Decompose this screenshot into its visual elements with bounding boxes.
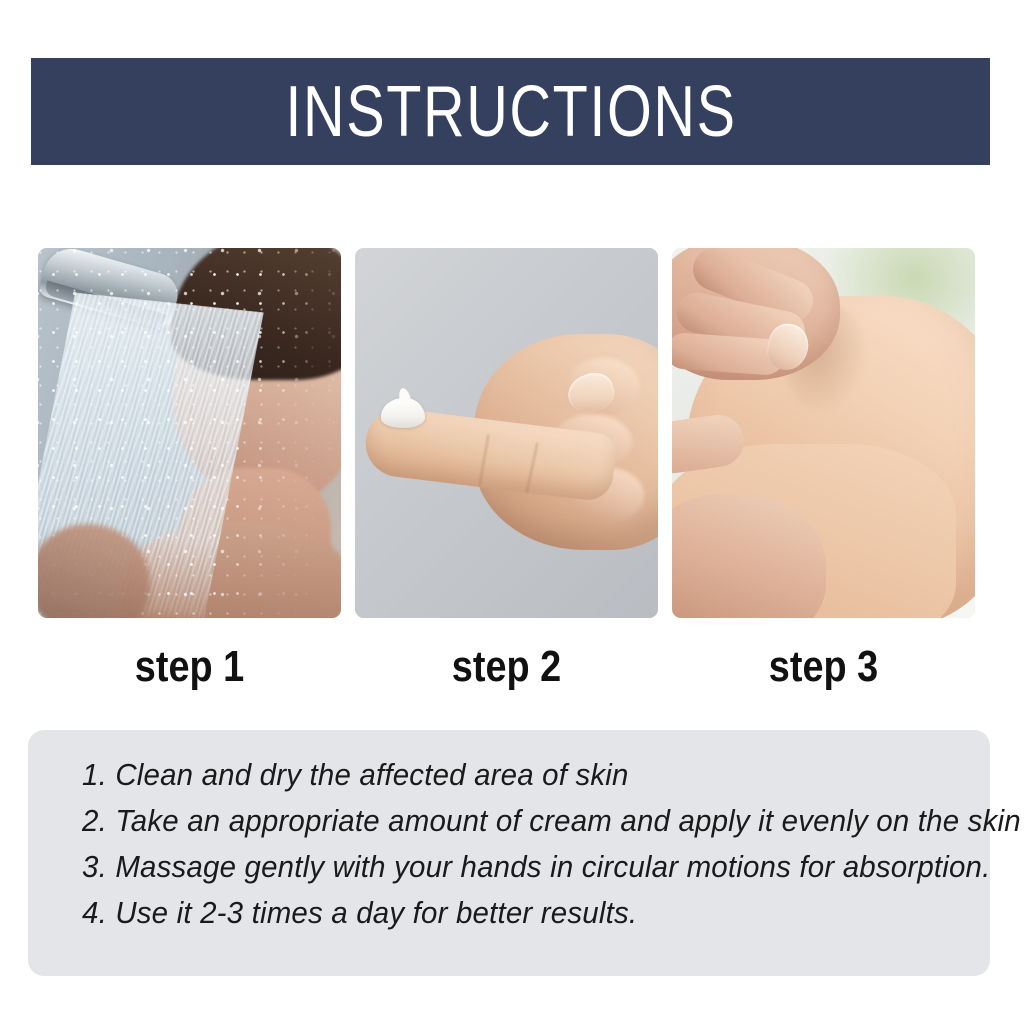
page-title: INSTRUCTIONS (285, 76, 736, 148)
step-label-2: step 2 (376, 640, 637, 694)
step-labels-row: step 1 step 2 step 3 (38, 640, 990, 694)
instruction-item: 1. Clean and dry the affected area of sk… (82, 752, 926, 798)
instruction-item: 4. Use it 2-3 times a day for better res… (82, 890, 926, 936)
instructions-graphic: INSTRUCTIONS (0, 0, 1024, 1024)
instructions-list: 1. Clean and dry the affected area of sk… (82, 752, 970, 936)
step-label-1: step 1 (59, 640, 320, 694)
step-images-row (38, 248, 990, 618)
header-banner: INSTRUCTIONS (31, 58, 990, 165)
instructions-panel: 1. Clean and dry the affected area of sk… (28, 730, 990, 976)
step-image-1 (38, 248, 341, 618)
step-label-3: step 3 (693, 640, 954, 694)
step-image-3 (672, 248, 975, 618)
instruction-item: 3. Massage gently with your hands in cir… (82, 844, 926, 890)
instruction-item: 2. Take an appropriate amount of cream a… (82, 798, 926, 844)
step-image-2 (355, 248, 658, 618)
